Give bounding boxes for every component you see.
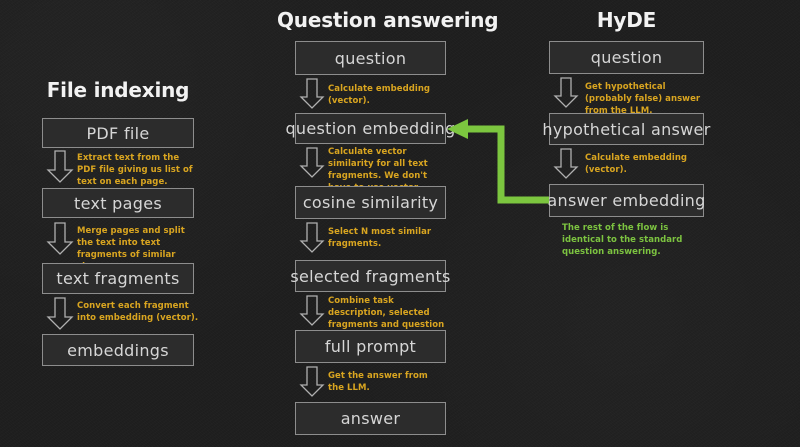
connector-answer-embedding-to-question-embedding	[0, 0, 800, 447]
diagram-canvas: File indexing Question answering HyDE PD…	[0, 0, 800, 447]
